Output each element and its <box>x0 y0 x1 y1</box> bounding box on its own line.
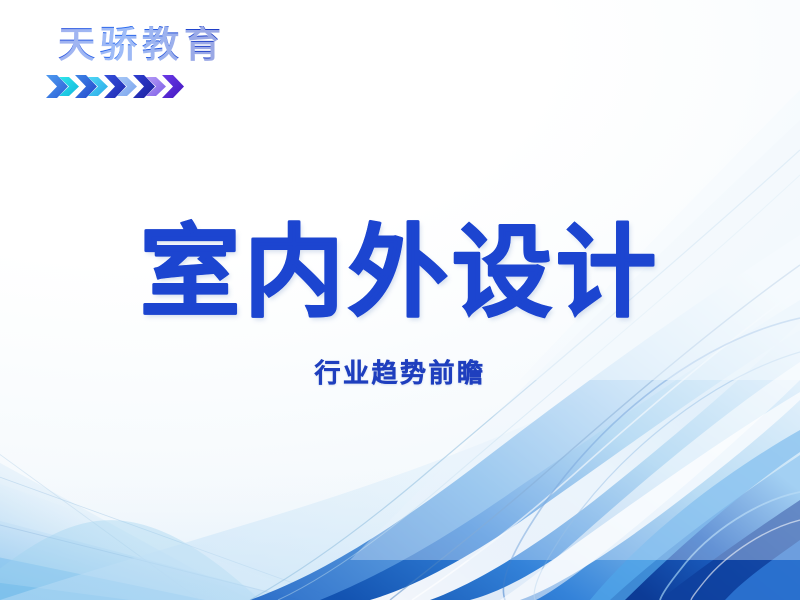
chevron-right-icon-row <box>46 72 286 102</box>
page-title: 室内外设计 <box>0 216 800 330</box>
page-subtitle: 行业趋势前瞻 <box>0 360 800 386</box>
poster-canvas: 天骄教育 <box>0 0 800 600</box>
brand-name: 天骄教育 <box>46 26 296 63</box>
brand-logo[interactable]: 天骄教育 <box>46 26 296 107</box>
